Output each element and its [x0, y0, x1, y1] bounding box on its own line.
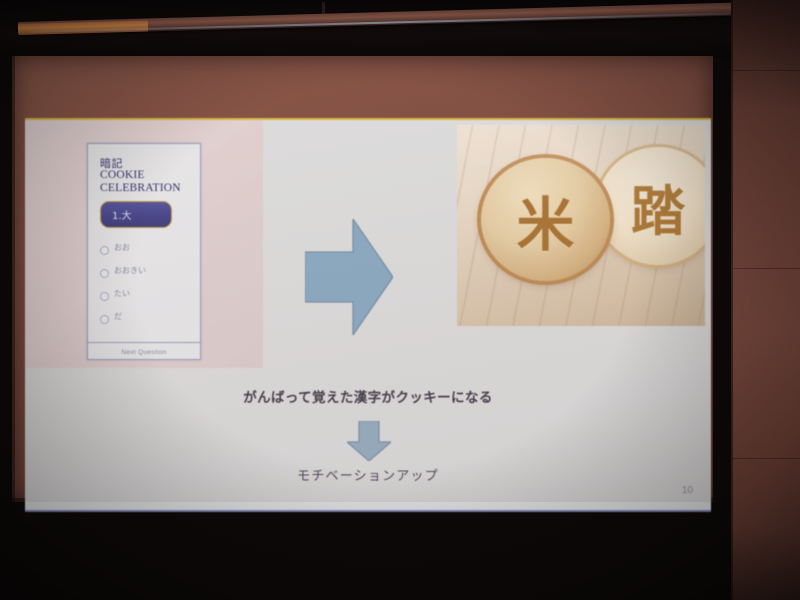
- arrow-down-icon: [347, 421, 391, 461]
- slide-caption-sub: モチベーションアップ: [25, 465, 711, 484]
- app-answer-options: おお おおきい たい だ: [100, 240, 192, 332]
- app-footer-divider: [88, 342, 200, 343]
- app-question-button-label: 1.大: [112, 207, 132, 222]
- answer-option-row[interactable]: おおきい: [100, 263, 192, 286]
- radio-icon[interactable]: [100, 246, 109, 255]
- cookie-kanji-left: 米: [481, 158, 610, 281]
- answer-option-row[interactable]: だ: [100, 309, 192, 332]
- room-wall-right: [731, 0, 800, 600]
- radio-icon[interactable]: [100, 292, 109, 301]
- app-title-line1: COOKIE: [100, 169, 181, 182]
- app-next-question-button[interactable]: Next Question: [88, 349, 200, 356]
- wall-panel-line-2: [733, 268, 800, 269]
- answer-option-row[interactable]: おお: [100, 240, 192, 263]
- cookie-left: 米: [481, 158, 610, 281]
- answer-option-label: たい: [114, 288, 130, 299]
- radio-icon[interactable]: [100, 269, 109, 278]
- slide-page-number: 10: [682, 485, 693, 496]
- answer-option-label: だ: [114, 311, 122, 322]
- wall-panel-line-3: [733, 458, 800, 459]
- radio-icon[interactable]: [100, 315, 109, 324]
- app-title-line2: CELEBRATION: [100, 182, 181, 195]
- arrow-right-icon: [305, 219, 393, 335]
- slide-bottom-rule: [25, 510, 711, 512]
- cookie-kanji-right: 踏: [597, 147, 705, 265]
- app-title: COOKIE CELEBRATION: [100, 169, 181, 194]
- cookie-photo: 踏 米: [457, 125, 705, 326]
- answer-option-label: おおきい: [114, 265, 146, 276]
- app-screenshot-mock: 暗記 COOKIE CELEBRATION 1.大 おお おおきい: [87, 143, 201, 360]
- answer-option-row[interactable]: たい: [100, 286, 192, 309]
- projector-room-photo: 暗記 COOKIE CELEBRATION 1.大 おお おおきい: [0, 0, 800, 600]
- slide-caption-main: がんばって覚えた漢字がクッキーになる: [25, 386, 711, 406]
- app-question-button[interactable]: 1.大: [100, 201, 172, 228]
- answer-option-label: おお: [114, 242, 130, 253]
- wall-panel-line-1: [733, 70, 800, 71]
- presentation-slide: 暗記 COOKIE CELEBRATION 1.大 おお おおきい: [25, 118, 711, 512]
- screen-edge-left: [12, 56, 15, 502]
- cookie-right: 踏: [597, 147, 705, 265]
- wall-screen-seam: [731, 0, 733, 600]
